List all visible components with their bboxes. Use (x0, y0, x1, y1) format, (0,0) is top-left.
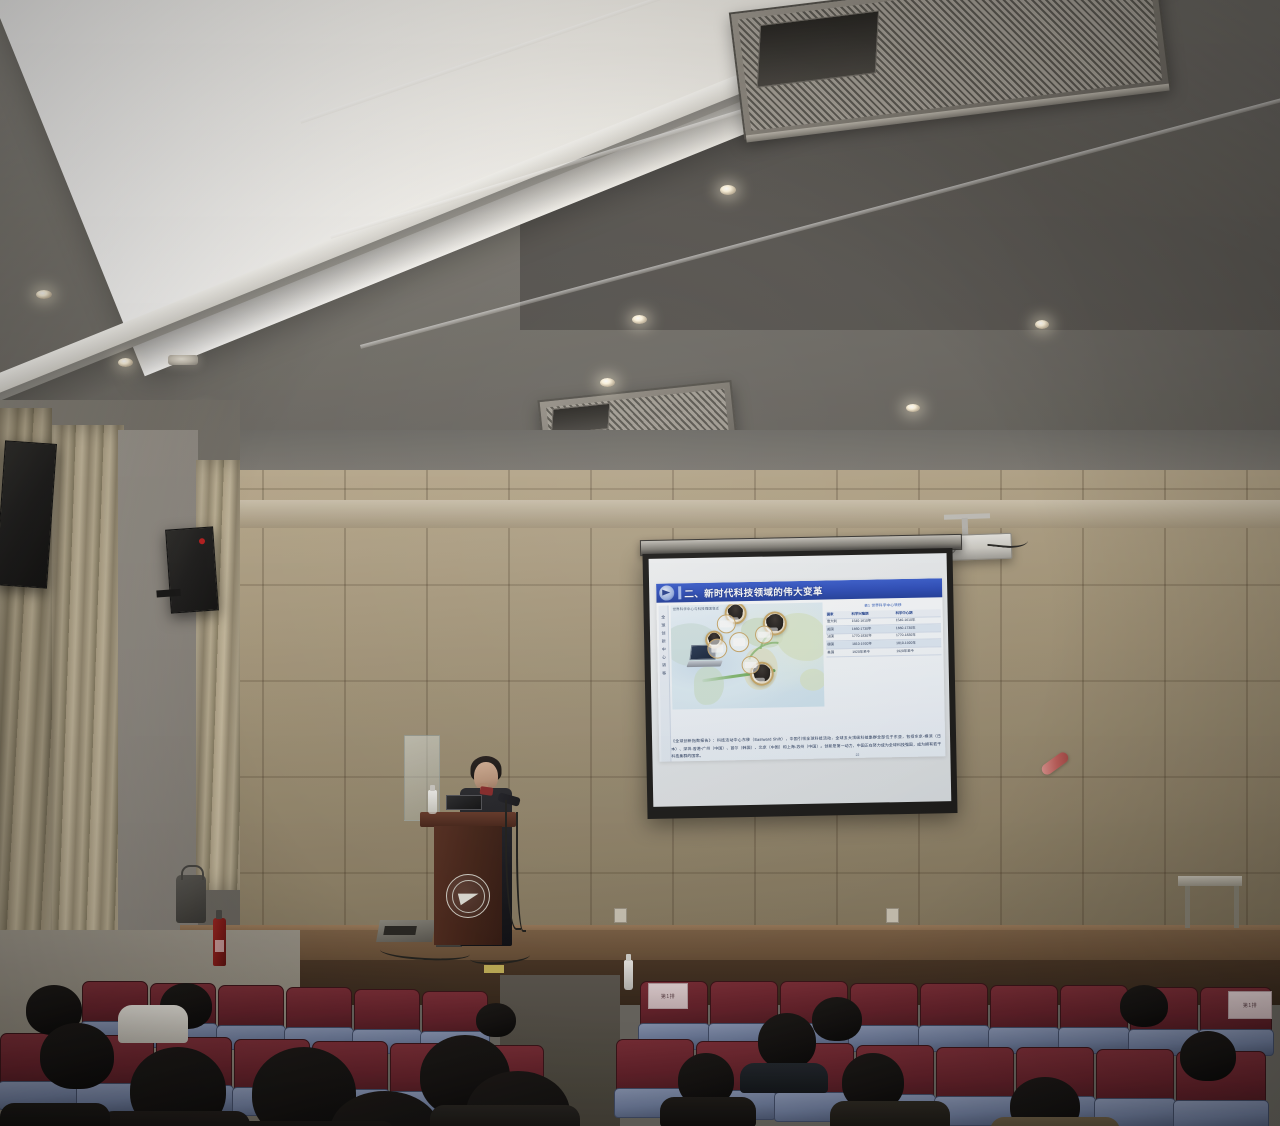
table-cell: 1770-1830年 (852, 635, 896, 639)
title-accent-bar (678, 586, 681, 599)
table-cell: 1660-1730年 (896, 626, 940, 630)
table-cell: 1770-1830年 (896, 634, 940, 638)
lecture-hall-photo: 二、新时代科技领域的伟大变革 全 球 创 新 中 心 转 移 (0, 0, 1280, 1126)
audience-seating-area: 第1排 第1排 (0, 975, 1280, 1126)
map-node-label (720, 620, 732, 627)
recessed-downlight (906, 404, 920, 412)
vertical-char: 移 (662, 672, 666, 676)
audience-head (812, 997, 862, 1041)
audience-shoulders (0, 1103, 110, 1126)
audience-head (476, 1003, 516, 1037)
audience-shoulders (236, 1121, 396, 1126)
table-cell: 法国 (827, 635, 852, 639)
slide-vertical-label: 全 球 创 新 中 心 转 移 (658, 606, 671, 762)
map-caption: 世界科学中心与科技强国变迁 (672, 606, 719, 612)
audience-head (40, 1023, 114, 1089)
side-table (1178, 876, 1242, 886)
side-table-leg (1185, 886, 1190, 928)
lectern-body (434, 826, 502, 945)
window-curtain (196, 460, 240, 890)
table-cell: 1540-1610年 (852, 619, 896, 623)
extinguisher-label (215, 940, 224, 952)
wall-top-trim (180, 500, 1280, 528)
table-cell: 美国 (827, 651, 852, 655)
table-cell: 1660-1730年 (852, 627, 896, 631)
water-bottle-on-lectern (428, 790, 437, 814)
emblem-arrow-icon (457, 888, 479, 904)
recessed-downlight (1035, 320, 1049, 329)
recessed-downlight (600, 378, 615, 387)
table-cell: 英国 (827, 628, 852, 632)
fire-extinguisher (213, 918, 226, 966)
emblem-inner-ring (452, 880, 485, 913)
presentation-slide: 二、新时代科技领域的伟大变革 全 球 创 新 中 心 转 移 (656, 578, 945, 761)
recessed-downlight (36, 290, 52, 299)
slide-title: 二、新时代科技领域的伟大变革 (684, 583, 823, 600)
vertical-char: 转 (662, 664, 666, 668)
audience-shoulders (830, 1101, 950, 1126)
recessed-downlight (118, 358, 133, 367)
table-cell: 1810-1920年 (896, 641, 940, 645)
table-cell: 1920年至今 (896, 649, 940, 653)
table-cell: 1540-1610年 (896, 618, 940, 622)
university-emblem-icon (446, 874, 490, 918)
water-bottle-on-seat-table (624, 960, 633, 990)
projection-screen-surface: 二、新时代科技领域的伟大变革 全 球 创 新 中 心 转 移 (649, 553, 952, 807)
monitor-grille-icon (383, 926, 417, 935)
side-table-leg (1234, 886, 1239, 928)
audience-head (1120, 985, 1168, 1027)
recessed-downlight (632, 315, 647, 324)
table-header-cell: 国家 (827, 613, 852, 617)
window-curtain (48, 425, 124, 985)
speaker-mount-arm (156, 589, 180, 598)
lectern (424, 812, 512, 945)
wall-speaker (165, 526, 219, 613)
seat[interactable] (1096, 1049, 1174, 1126)
table-cell: 1920年至今 (852, 650, 896, 654)
map-node-circle (729, 632, 749, 652)
table-cell: 1810-1920年 (852, 642, 896, 646)
landmass-oceania (800, 669, 825, 691)
table-header-cell: 科学兴隆期 (852, 612, 896, 616)
laptop-screen-icon (446, 795, 482, 810)
paper-plane-logo-icon (659, 585, 674, 600)
vertical-char: 球 (661, 624, 665, 628)
bag-on-floor (176, 875, 206, 923)
map-node-circle (707, 638, 727, 658)
recessed-downlight (720, 185, 736, 195)
map-node-label (733, 638, 746, 645)
table-cell: 德国 (827, 643, 852, 647)
vertical-char: 创 (661, 632, 665, 636)
audience-shoulders (430, 1105, 580, 1126)
table-header-cell: 科学中心期 (896, 611, 940, 615)
audience-shoulders (100, 1111, 250, 1126)
seat-row-sign: 第1排 (648, 983, 688, 1009)
vertical-char: 全 (661, 616, 665, 620)
vertical-char: 心 (662, 656, 666, 660)
table-row: 美国 1920年至今 1920年至今 (826, 647, 941, 657)
laptop-base-icon (686, 660, 722, 667)
audience-shoulders (740, 1063, 828, 1093)
audience-head (1180, 1031, 1236, 1081)
map-node-label (745, 662, 757, 669)
audience-shoulders (660, 1097, 756, 1126)
seat-row-sign: 第1排 (1228, 991, 1272, 1019)
seat-cushion (1173, 1100, 1268, 1126)
slide-world-map-diagram: 世界科学中心与科技强国变迁 (670, 603, 824, 710)
laptop-on-lectern (444, 795, 486, 815)
map-node-label (711, 645, 724, 652)
slide-page-number: 22 (856, 753, 860, 757)
stage-floor-tape (484, 965, 504, 973)
ceiling-vent-slot (168, 355, 198, 365)
speaker-led-icon (199, 538, 205, 544)
table-caption: 表1 世界科学中心转移 (825, 602, 940, 609)
projection-screen: 二、新时代科技领域的伟大变革 全 球 创 新 中 心 转 移 (642, 548, 957, 819)
map-node-circle (717, 614, 736, 633)
wall-power-outlet (614, 908, 627, 923)
wall-power-outlet (886, 908, 899, 923)
audience-shoulders (990, 1117, 1120, 1126)
vertical-char: 中 (662, 648, 666, 652)
table-cell: 意大利 (827, 620, 852, 624)
landmass-south-america (694, 666, 725, 705)
map-node-label (758, 631, 770, 638)
audience-shoulders (118, 1005, 188, 1043)
vertical-char: 新 (662, 640, 666, 644)
audience-head (758, 1013, 816, 1069)
